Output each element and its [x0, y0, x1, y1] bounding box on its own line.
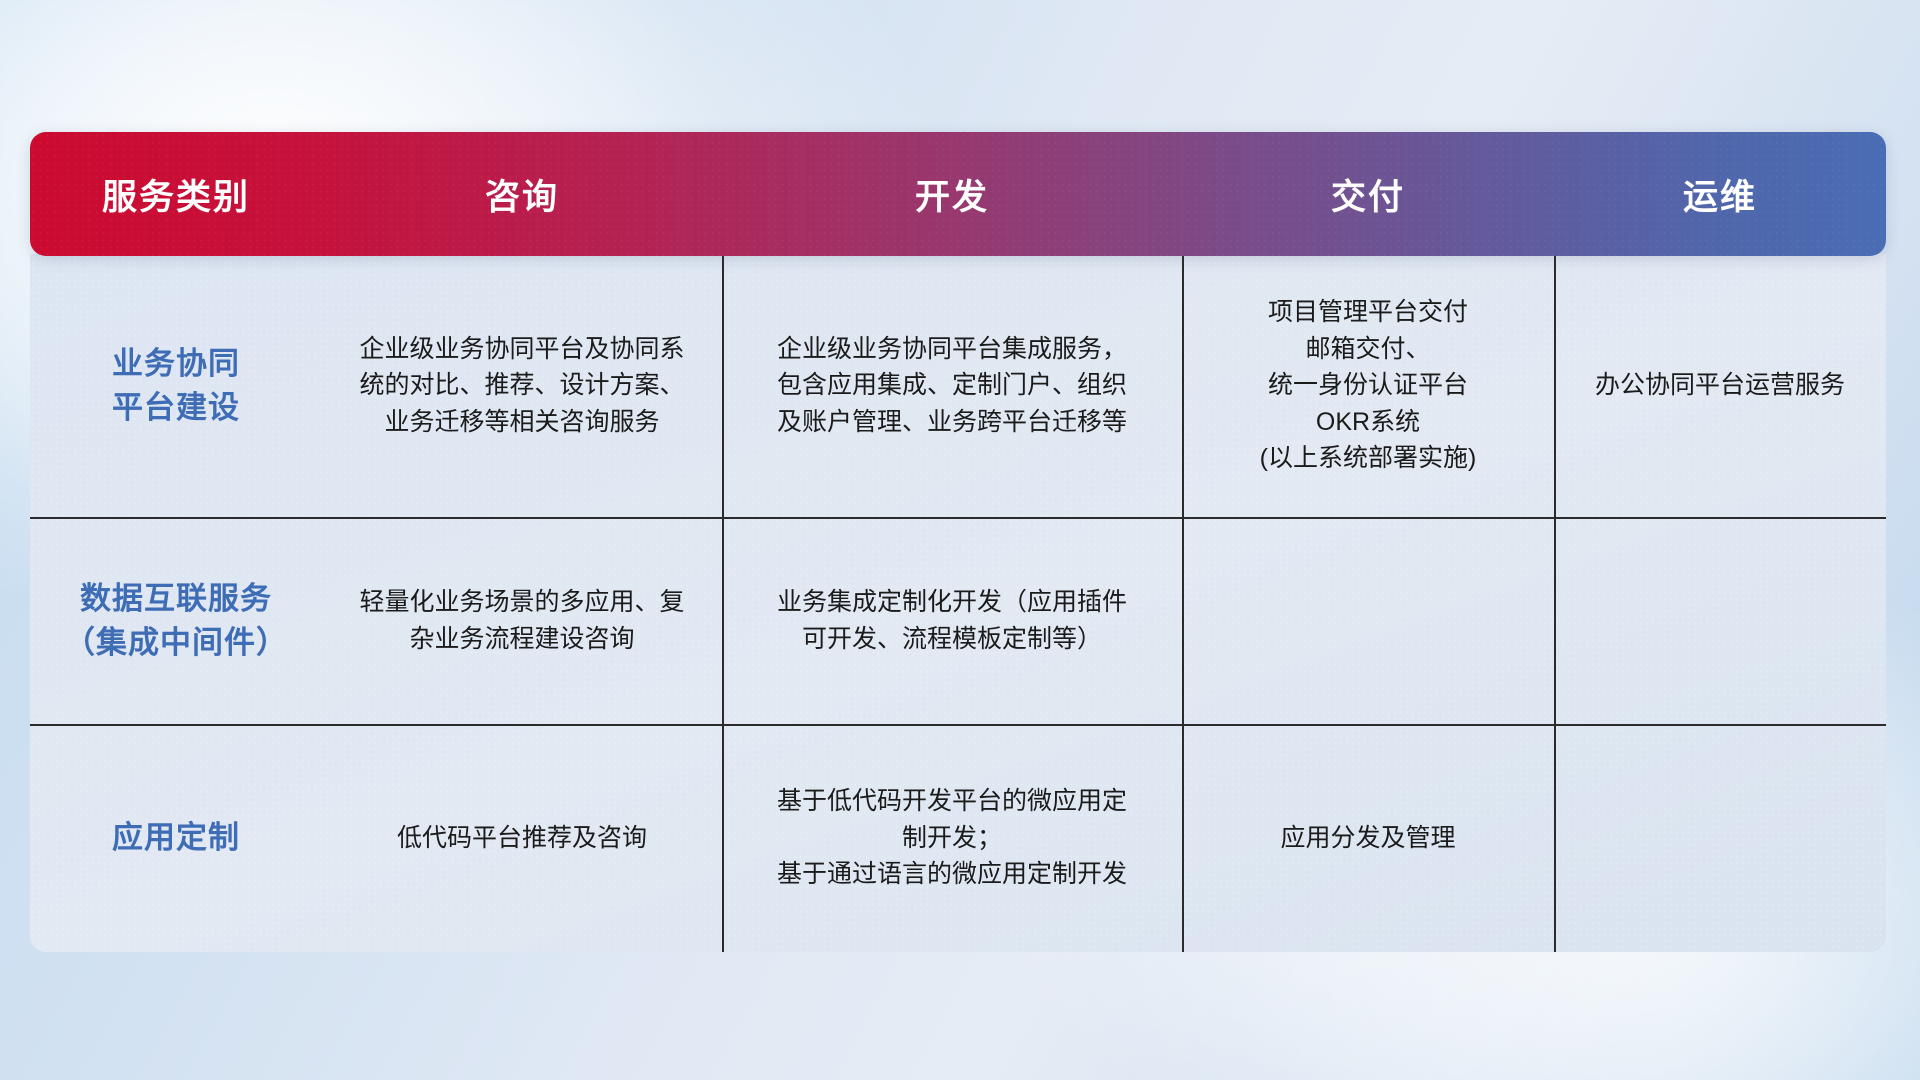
row-label-cell: 应用定制 — [30, 724, 322, 952]
cell-text: 低代码平台推荐及咨询 — [397, 820, 647, 857]
cell-text: 应用分发及管理 — [1280, 820, 1455, 857]
cell-operations: 办公协同平台运营服务 — [1554, 254, 1886, 517]
cell-text: 基于低代码开发平台的微应用定 制开发； 基于通过语言的微应用定制开发 — [777, 783, 1127, 893]
service-matrix-table: 服务类别 咨询 开发 交付 运维 业务协同 平台建设 企业级业务协同平台及协同系… — [30, 132, 1886, 952]
cell-text: 轻量化业务场景的多应用、复 杂业务流程建设咨询 — [359, 584, 684, 657]
table-header-row: 服务类别 咨询 开发 交付 运维 — [30, 132, 1886, 256]
cell-development: 基于低代码开发平台的微应用定 制开发； 基于通过语言的微应用定制开发 — [722, 724, 1182, 952]
row-label-cell: 数据互联服务 （集成中间件） — [30, 517, 322, 724]
cell-development: 业务集成定制化开发（应用插件 可开发、流程模板定制等） — [722, 517, 1182, 724]
row-label-cell: 业务协同 平台建设 — [30, 254, 322, 517]
column-header-development[interactable]: 开发 — [722, 132, 1182, 256]
table-row: 应用定制 低代码平台推荐及咨询 基于低代码开发平台的微应用定 制开发； 基于通过… — [30, 724, 1886, 952]
column-header-operations[interactable]: 运维 — [1554, 132, 1886, 256]
cell-text: 项目管理平台交付 邮箱交付、 统一身份认证平台 OKR系统 (以上系统部署实施) — [1260, 294, 1477, 477]
cell-operations — [1554, 724, 1886, 952]
cell-text: 办公协同平台运营服务 — [1595, 367, 1845, 404]
cell-operations — [1554, 517, 1886, 724]
table-row: 业务协同 平台建设 企业级业务协同平台及协同系 统的对比、推荐、设计方案、 业务… — [30, 254, 1886, 517]
column-header-consulting[interactable]: 咨询 — [322, 132, 722, 256]
cell-consulting: 轻量化业务场景的多应用、复 杂业务流程建设咨询 — [322, 517, 722, 724]
table-body: 业务协同 平台建设 企业级业务协同平台及协同系 统的对比、推荐、设计方案、 业务… — [30, 254, 1886, 952]
cell-text: 业务集成定制化开发（应用插件 可开发、流程模板定制等） — [777, 584, 1127, 657]
cell-delivery: 应用分发及管理 — [1182, 724, 1554, 952]
cell-text: 企业级业务协同平台及协同系 统的对比、推荐、设计方案、 业务迁移等相关咨询服务 — [359, 331, 684, 441]
cell-consulting: 企业级业务协同平台及协同系 统的对比、推荐、设计方案、 业务迁移等相关咨询服务 — [322, 254, 722, 517]
cell-delivery: 项目管理平台交付 邮箱交付、 统一身份认证平台 OKR系统 (以上系统部署实施) — [1182, 254, 1554, 517]
service-matrix-table-wrapper: 服务类别 咨询 开发 交付 运维 业务协同 平台建设 企业级业务协同平台及协同系… — [30, 132, 1886, 952]
cell-consulting: 低代码平台推荐及咨询 — [322, 724, 722, 952]
table-row: 数据互联服务 （集成中间件） 轻量化业务场景的多应用、复 杂业务流程建设咨询 业… — [30, 517, 1886, 724]
row-label-text: 数据互联服务 （集成中间件） — [64, 577, 288, 665]
cell-delivery — [1182, 517, 1554, 724]
row-label-text: 应用定制 — [112, 816, 240, 860]
cell-development: 企业级业务协同平台集成服务， 包含应用集成、定制门户、组织 及账户管理、业务跨平… — [722, 254, 1182, 517]
row-label-text: 业务协同 平台建设 — [112, 342, 240, 430]
column-header-delivery[interactable]: 交付 — [1182, 132, 1554, 256]
column-header-category[interactable]: 服务类别 — [30, 132, 322, 256]
cell-text: 企业级业务协同平台集成服务， 包含应用集成、定制门户、组织 及账户管理、业务跨平… — [777, 331, 1127, 441]
